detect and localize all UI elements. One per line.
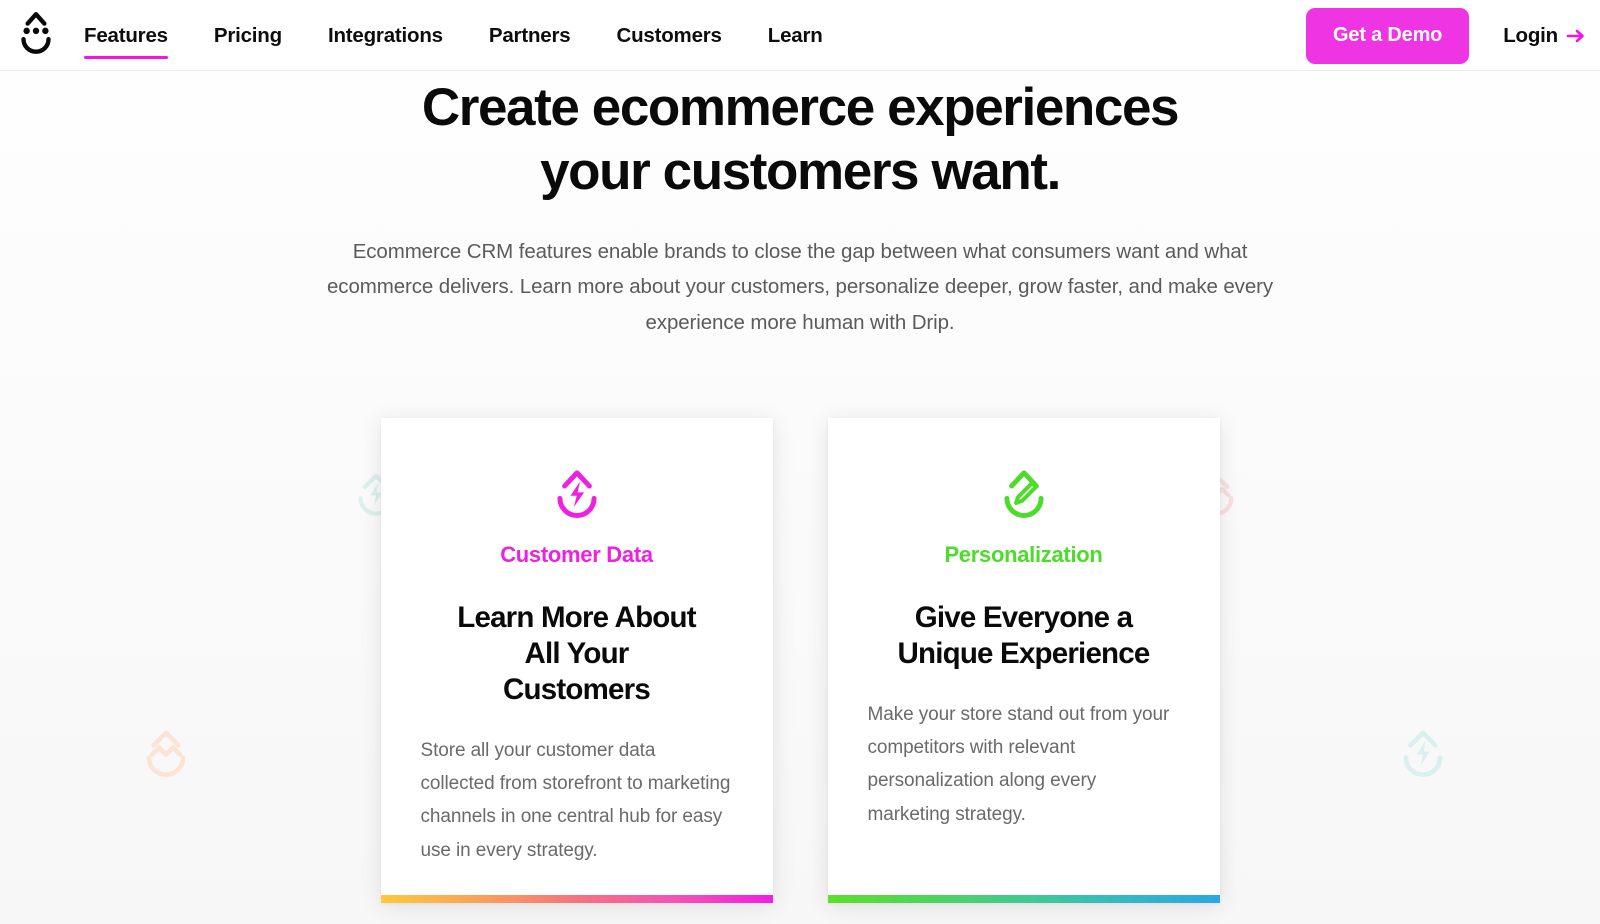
card-eyebrow-personalization: Personalization	[944, 542, 1102, 568]
nav-item-pricing[interactable]: Pricing	[191, 0, 305, 71]
droplet-pencil-icon	[993, 462, 1055, 524]
card-accent-bar-personalization	[828, 895, 1220, 903]
nav-item-features[interactable]: Features	[84, 0, 191, 71]
card-title-line-1: Give Everyone a	[898, 600, 1150, 636]
nav-item-label: Pricing	[214, 24, 282, 48]
landing-page: Features Pricing Integrations Partners C…	[0, 0, 1600, 924]
feature-card-personalization[interactable]: Personalization Give Everyone a Unique E…	[828, 418, 1220, 903]
login-label: Login	[1503, 24, 1558, 48]
login-link[interactable]: Login	[1503, 24, 1586, 48]
page-title-line-1: Create ecommerce experiences	[0, 81, 1600, 134]
card-title-line-1: Learn More About	[457, 600, 696, 636]
header-actions: Get a Demo Login	[1306, 0, 1600, 71]
nav-item-customers[interactable]: Customers	[593, 0, 744, 71]
arrow-right-icon	[1566, 28, 1586, 44]
card-title-customer-data: Learn More About All Your Customers	[457, 600, 696, 708]
droplet-lightning-bolt-icon	[546, 462, 608, 524]
get-a-demo-button[interactable]: Get a Demo	[1306, 8, 1469, 64]
page-title-line-2: your customers want.	[0, 145, 1600, 198]
nav-item-integrations[interactable]: Integrations	[305, 0, 466, 71]
feature-card-customer-data[interactable]: Customer Data Learn More About All Your …	[381, 418, 773, 903]
card-body-personalization: Make your store stand out from your comp…	[868, 698, 1180, 831]
feature-cards: Customer Data Learn More About All Your …	[0, 418, 1600, 903]
page-title: Create ecommerce experiences your custom…	[0, 81, 1600, 198]
nav-item-label: Partners	[489, 24, 571, 48]
hero-subtitle: Ecommerce CRM features enable brands to …	[300, 234, 1300, 340]
nav-item-label: Learn	[768, 24, 823, 48]
card-title-line-2: Unique Experience	[898, 636, 1150, 672]
hero-section: Create ecommerce experiences your custom…	[0, 71, 1600, 340]
card-title-line-3: Customers	[457, 672, 696, 708]
card-body-customer-data: Store all your customer data collected f…	[421, 734, 733, 867]
main-navigation: Features Pricing Integrations Partners C…	[84, 0, 846, 71]
drip-logo-icon[interactable]	[13, 9, 59, 59]
card-title-line-2: All Your	[457, 636, 696, 672]
nav-item-label: Features	[84, 24, 168, 48]
site-header: Features Pricing Integrations Partners C…	[0, 0, 1600, 71]
card-eyebrow-customer-data: Customer Data	[500, 542, 653, 568]
card-accent-bar-customer-data	[381, 895, 773, 903]
nav-active-underline	[84, 56, 168, 59]
nav-item-label: Integrations	[328, 24, 443, 48]
nav-item-label: Customers	[616, 24, 721, 48]
card-title-personalization: Give Everyone a Unique Experience	[898, 600, 1150, 672]
nav-item-partners[interactable]: Partners	[466, 0, 594, 71]
nav-item-learn[interactable]: Learn	[745, 0, 846, 71]
